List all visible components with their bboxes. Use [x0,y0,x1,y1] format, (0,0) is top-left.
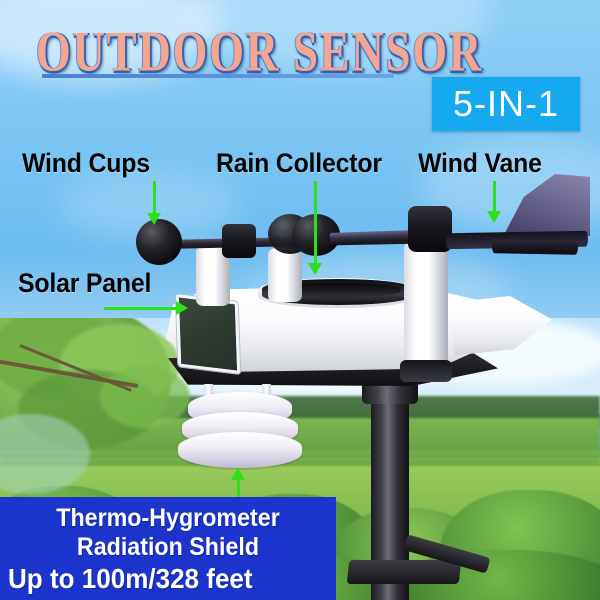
banner-line-3: Up to 100m/328 feet [8,563,253,595]
callout-label-wind-vane: Wind Vane [418,148,542,179]
product-banner-image: OUTDOOR SENSOR 5-IN-1 Wind Cups Rain Col… [0,0,600,600]
page-title: OUTDOOR SENSOR [36,24,388,81]
pole-bracket [347,560,462,584]
bottom-info-banner: Thermo-Hygrometer Radiation Shield Up to… [0,497,336,600]
wind-vane-hub [408,206,452,252]
sensor-body-nose [452,296,552,358]
badge-label: 5-IN-1 [453,83,559,125]
five-in-one-badge: 5-IN-1 [432,77,580,131]
banner-line-1: Thermo-Hygrometer [12,504,324,533]
anemometer-hub [222,224,256,258]
arrow-right-icon-solar-panel [104,300,188,316]
callout-label-wind-cups: Wind Cups [22,148,150,179]
wind-vane-mast-collar [400,360,452,382]
wind-vane-counterweight [492,239,578,254]
center-mast [268,248,302,302]
title-underline [42,74,394,78]
arrow-down-icon-wind-vane [486,181,502,223]
callout-label-solar-panel: Solar Panel [18,268,151,299]
arrow-down-icon-wind-cups [146,181,162,225]
wind-cup-left [136,219,182,265]
radiation-shield-disc-3 [178,432,302,468]
arrow-down-icon-rain-collector [307,181,323,275]
banner-line-2: Radiation Shield [12,533,324,562]
callout-label-rain-collector: Rain Collector [216,148,382,179]
